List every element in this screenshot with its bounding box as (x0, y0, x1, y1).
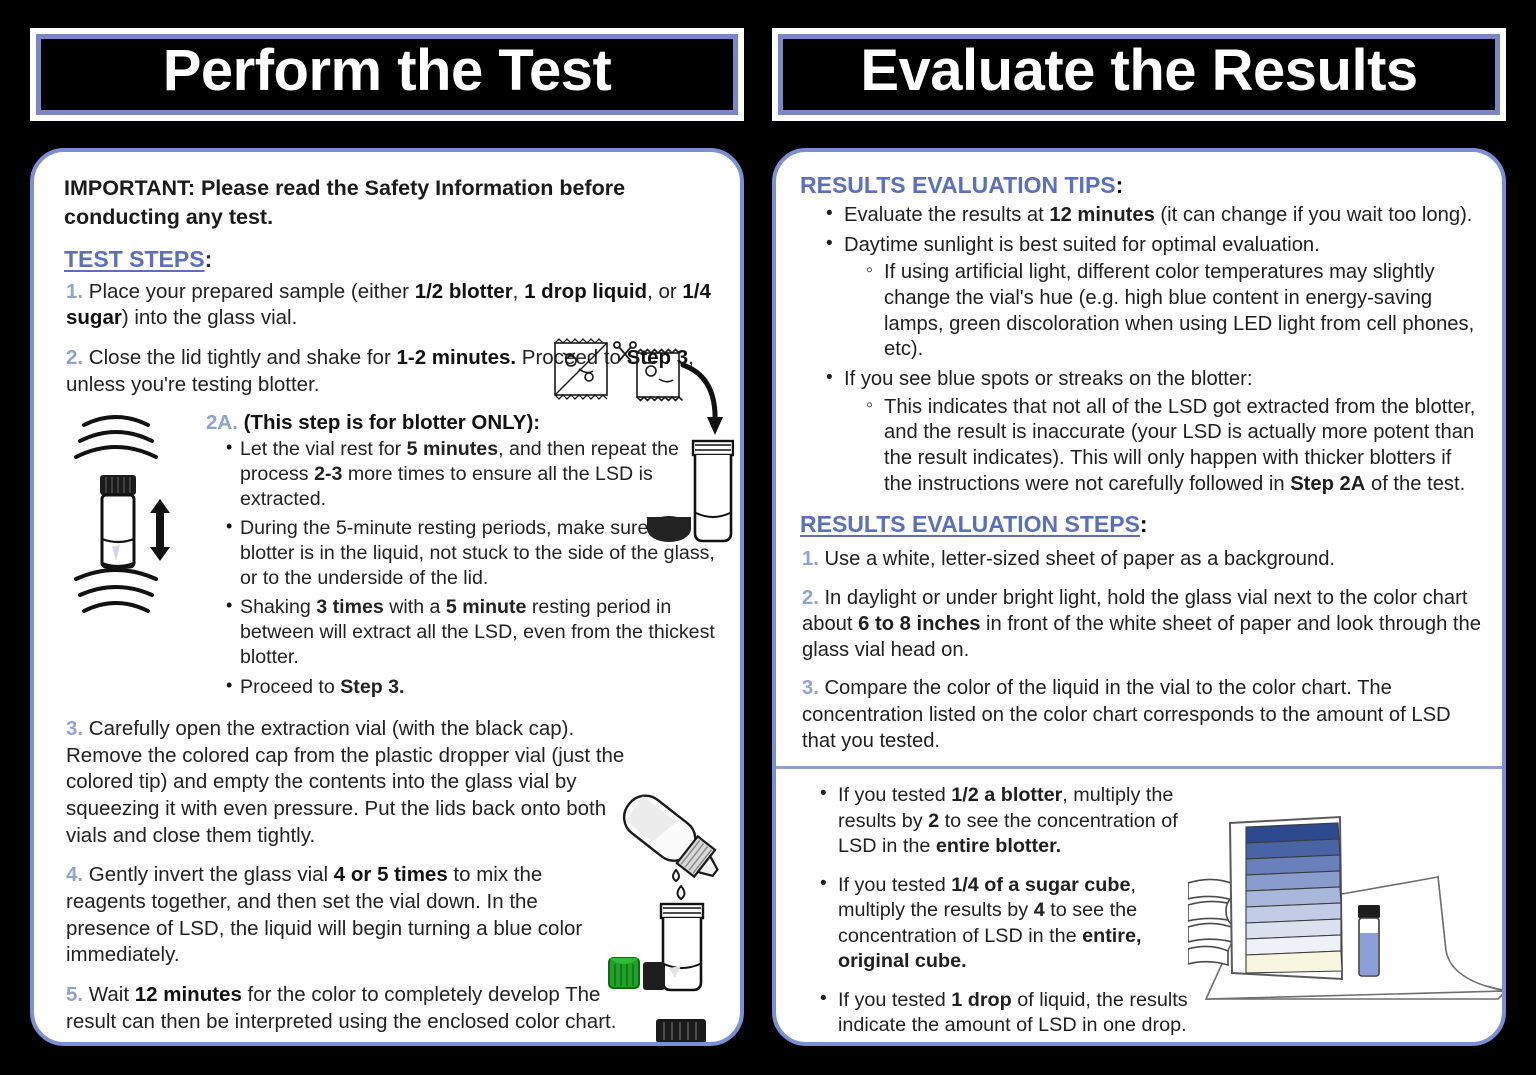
eval-step-1-number: 1. (802, 548, 819, 570)
blotter-cut-illustration-slot (549, 337, 734, 552)
color-chart-card (1230, 817, 1342, 979)
test-steps-heading-label: TEST STEPS (64, 246, 205, 272)
tip-item: If you see blue spots or streaks on the … (826, 367, 1484, 497)
eval-step-2-number: 2. (802, 587, 819, 609)
shaking-vial-icon (56, 411, 196, 626)
step-1-number: 1. (66, 280, 83, 303)
eval-steps-heading-colon: : (1140, 511, 1148, 537)
arrow-icon (683, 365, 723, 435)
test-step-1: 1. Place your prepared sample (either 1/… (66, 279, 722, 332)
step-2a-bullet: Proceed to Step 3. (226, 675, 722, 700)
eval-step-3-text: Compare the color of the liquid in the v… (802, 677, 1451, 752)
step-5-text: Wait 12 minutes for the color to complet… (66, 983, 616, 1033)
right-panel: Evaluate the Results RESULTS EVALUATION … (772, 28, 1506, 1048)
conversion-bullet: If you tested 1/4 of a sugar cube, multi… (820, 873, 1198, 975)
dropper-illustration-slot (599, 782, 744, 1002)
step-3-number: 3. (66, 717, 83, 740)
left-banner-title: Perform the Test (41, 41, 733, 100)
perform-the-test-card: IMPORTANT: Please read the Safety Inform… (30, 148, 744, 1046)
droplet-icon (673, 870, 685, 899)
step-4-number: 4. (66, 863, 83, 886)
conversion-bullet: If you tested 1 drop of liquid, the resu… (820, 988, 1198, 1039)
poster-root: Perform the Test IMPORTANT: Please read … (0, 0, 1536, 1075)
eval-steps-heading-label: RESULTS EVALUATION STEPS (800, 511, 1140, 537)
eval-step-1-text: Use a white, letter-sized sheet of paper… (819, 548, 1335, 570)
step-4-text: Gently invert the glass vial 4 or 5 time… (66, 863, 582, 966)
conversion-section: If you tested 1/2 a blotter, multiply th… (798, 783, 1484, 1046)
conversion-bullets-wrap: If you tested 1/2 a blotter, multiply th… (798, 783, 1198, 1046)
conversion-bullets: If you tested 1/2 a blotter, multiply th… (798, 783, 1198, 1039)
important-notice: IMPORTANT: Please read the Safety Inform… (64, 174, 722, 232)
test-steps-heading-colon: : (205, 246, 213, 272)
color-chart-illustration-slot (1188, 801, 1506, 1046)
open-vial-icon (693, 441, 733, 541)
step-1-text: Place your prepared sample (either 1/2 b… (66, 280, 711, 330)
step-3-text: Carefully open the extraction vial (with… (66, 717, 624, 847)
tips-heading-label: RESULTS EVALUATION TIPS (800, 172, 1116, 198)
perform-the-test-banner: Perform the Test (30, 28, 744, 121)
tips-list: Evaluate the results at 12 minutes (it c… (798, 203, 1484, 497)
open-vial-icon (661, 904, 703, 990)
tip-subitems: This indicates that not all of the LSD g… (844, 395, 1484, 498)
blue-vial-icon (1358, 905, 1380, 976)
eval-step-2-text: In daylight or under bright light, hold … (802, 587, 1481, 662)
dropper-bottle-icon (599, 782, 744, 997)
green-cap-icon (609, 958, 639, 988)
eval-step-1: 1. Use a white, letter-sized sheet of pa… (802, 546, 1484, 572)
right-banner-title: Evaluate the Results (783, 41, 1495, 100)
test-step-3: 3. Carefully open the extraction vial (w… (66, 716, 626, 849)
test-step-4: 4. Gently invert the glass vial 4 or 5 t… (66, 862, 601, 969)
tip-subitem: If using artificial light, different col… (866, 260, 1484, 363)
banner-black-fill: Perform the Test (41, 39, 733, 110)
test-step-5: 5. Wait 12 minutes for the color to comp… (66, 982, 621, 1035)
banner-blue-frame: Perform the Test (36, 34, 738, 115)
tip-subitems: If using artificial light, different col… (844, 260, 1484, 363)
tip-item: Evaluate the results at 12 minutes (it c… (826, 203, 1484, 229)
step-2a-bullet: Shaking 3 times with a 5 minute resting … (226, 595, 722, 669)
banner-blue-frame: Evaluate the Results (778, 34, 1500, 115)
step-5-number: 5. (66, 983, 83, 1006)
conversion-bullet: If you tested 1/2 a blotter, multiply th… (820, 783, 1198, 860)
evaluate-the-results-card: RESULTS EVALUATION TIPS: Evaluate the re… (772, 148, 1506, 1046)
results-evaluation-tips-heading: RESULTS EVALUATION TIPS: (800, 172, 1484, 199)
banner-black-fill: Evaluate the Results (783, 39, 1495, 110)
blotter-scissors-vial-icon (549, 337, 734, 547)
tip-item: Daytime sunlight is best suited for opti… (826, 233, 1484, 363)
test-steps-heading: TEST STEPS: (64, 246, 722, 273)
color-chart-comparison-icon (1188, 801, 1506, 1046)
step-2-number: 2. (66, 346, 83, 369)
tip-subitem: This indicates that not all of the LSD g… (866, 395, 1484, 498)
black-cap-icon (643, 962, 665, 990)
section-divider (776, 766, 1502, 769)
shaking-vial-illustration-slot (56, 411, 206, 704)
step-2a-title: (This step is for blotter ONLY): (244, 411, 541, 434)
eval-step-2: 2. In daylight or under bright light, ho… (802, 585, 1484, 664)
eval-step-3: 3. Compare the color of the liquid in th… (802, 675, 1484, 754)
evaluate-the-results-banner: Evaluate the Results (772, 28, 1506, 121)
inverting-vial-illustration-slot (612, 1007, 744, 1046)
scissors-icon (614, 342, 636, 361)
step-2a-number: 2A. (206, 411, 238, 434)
eval-step-3-number: 3. (802, 677, 819, 699)
results-evaluation-steps-heading: RESULTS EVALUATION STEPS: (800, 511, 1484, 538)
left-panel: Perform the Test IMPORTANT: Please read … (30, 28, 744, 1048)
inverting-blue-vial-icon (612, 1007, 744, 1046)
tips-heading-colon: : (1116, 172, 1124, 198)
